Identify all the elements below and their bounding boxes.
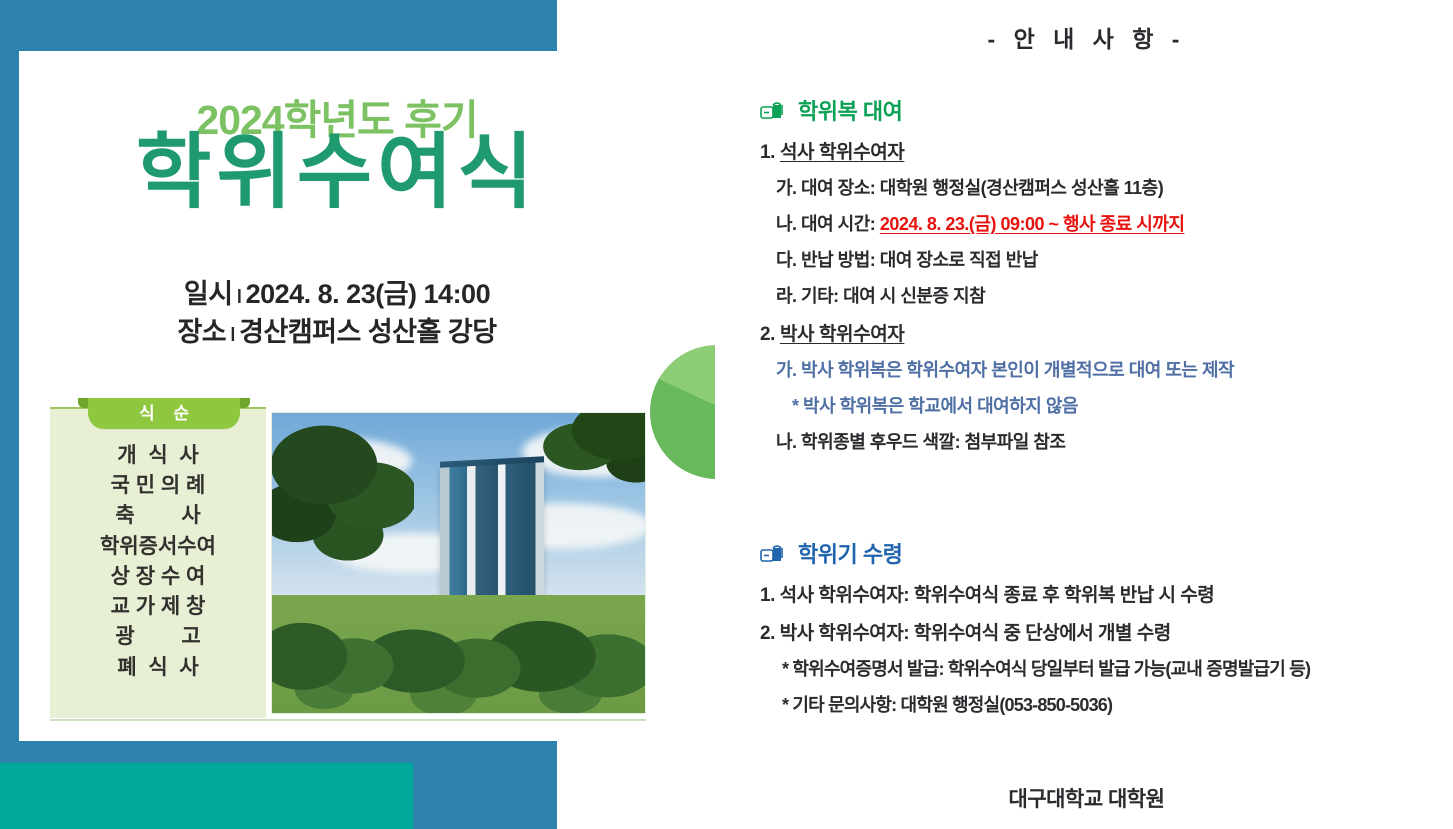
notice-title: - 안 내 사 항 -	[720, 20, 1453, 54]
poster-place-row: 장소ı경산캠퍼스 성산홀 강당	[19, 313, 655, 351]
section-heading-text: 학위기 수령	[798, 537, 902, 569]
notice-panel: - 안 내 사 항 - 학위복 대여 1. 석사 학위수여자가. 대여 장소: …	[720, 0, 1453, 829]
item-emphasis: 2024. 8. 23.(금) 09:00 ~ 행사 종료 시까지	[880, 214, 1185, 234]
notice-numbered-item: 1. 석사 학위수여자	[760, 137, 1453, 164]
notice-numbered-item: 2. 박사 학위수여자: 학위수여식 중 단상에서 개별 수령	[760, 618, 1453, 645]
notice-sub-item-note: * 박사 학위복은 학교에서 대여하지 않음	[760, 392, 1453, 418]
program-item: 교 가 제 창	[50, 592, 266, 622]
item-number: 2.	[760, 324, 780, 345]
notice-sub-item: 다. 반납 방법: 대여 장소로 직접 반납	[760, 246, 1453, 272]
item-number: 1.	[760, 142, 780, 163]
notice-sub-item: 라. 기타: 대여 시 신분증 지참	[760, 282, 1453, 308]
poster-place-label: 장소	[177, 317, 226, 347]
program-item: 학위증서수여	[50, 532, 266, 562]
program-item: 축 사	[50, 501, 266, 531]
section-heading-row: 학위기 수령	[760, 537, 1453, 569]
program-item: 개 식 사	[50, 441, 266, 471]
item-underlined-label: 박사 학위수여자	[780, 324, 904, 345]
poster-datetime-value: 2024. 8. 23(금) 14:00	[246, 279, 491, 309]
poster-meta-block: 일시ı2024. 8. 23(금) 14:00 장소ı경산캠퍼스 성산홀 강당	[19, 275, 655, 352]
poster-frame-left-bar	[0, 0, 19, 741]
notice-section-gown-rental: 학위복 대여 1. 석사 학위수여자가. 대여 장소: 대학원 행정실(경산캠퍼…	[760, 94, 1453, 454]
item-underlined-label: 석사 학위수여자	[780, 142, 904, 163]
mailbox-icon	[760, 99, 786, 121]
poster-frame-teal-bar	[0, 763, 413, 829]
event-poster: 2024학년도 후기 학위수여식 일시ı2024. 8. 23(금) 14:00…	[0, 0, 720, 829]
notice-star-note: * 기타 문의사항: 대학원 행정실(053-850-5036)	[760, 691, 1453, 717]
section-body: 1. 석사 학위수여자: 학위수여식 종료 후 학위복 반납 시 수령2. 박사…	[760, 580, 1453, 717]
section-body: 1. 석사 학위수여자가. 대여 장소: 대학원 행정실(경산캠퍼스 성산홀 1…	[760, 137, 1453, 454]
footer-text: 대구대학교 대학원	[1009, 788, 1165, 811]
poster-sep-1: ı	[233, 279, 246, 309]
program-item: 상 장 수 여	[50, 562, 266, 592]
photo-treeline	[272, 595, 645, 713]
notice-numbered-item: 2. 박사 학위수여자	[760, 319, 1453, 346]
notice-sub-item: 나. 학위종별 후우드 색깔: 첨부파일 참조	[760, 428, 1453, 454]
notice-sub-item-highlight: 나. 대여 시간: 2024. 8. 23.(금) 09:00 ~ 행사 종료 …	[760, 210, 1453, 236]
program-item-list: 개 식 사국 민 의 례축 사학위증서수여상 장 수 여교 가 제 창광 고폐 …	[50, 441, 266, 683]
poster-datetime-label: 일시	[184, 279, 233, 309]
notice-star-note: * 학위수여증명서 발급: 학위수여식 당일부터 발급 가능(교내 증명발급기 …	[760, 655, 1453, 681]
program-item: 폐 식 사	[50, 653, 266, 683]
notice-numbered-item: 1. 석사 학위수여자: 학위수여식 종료 후 학위복 반납 시 수령	[760, 580, 1453, 607]
program-item: 광 고	[50, 622, 266, 652]
notice-section-diploma-pickup: 학위기 수령 1. 석사 학위수여자: 학위수여식 종료 후 학위복 반납 시 …	[760, 537, 1453, 717]
photo-tree-right	[535, 412, 646, 497]
poster-place-value: 경산캠퍼스 성산홀 강당	[239, 317, 496, 347]
section-heading-text: 학위복 대여	[798, 94, 902, 126]
poster-datetime-row: 일시ı2024. 8. 23(금) 14:00	[19, 275, 655, 313]
poster-main-title: 학위수여식	[19, 132, 655, 214]
notice-footer-organization: 대구대학교 대학원	[720, 783, 1453, 813]
program-banner-label: 식 순	[88, 398, 240, 429]
program-item: 국 민 의 례	[50, 471, 266, 501]
campus-photo	[271, 412, 646, 714]
notice-sub-item-note: 가. 박사 학위복은 학위수여자 본인이 개별적으로 대여 또는 제작	[760, 356, 1453, 382]
poster-bottom-rule	[50, 719, 646, 721]
green-circle-decoration	[650, 345, 720, 479]
notice-sub-item: 가. 대여 장소: 대학원 행정실(경산캠퍼스 성산홀 11층)	[760, 174, 1453, 200]
poster-sep-2: ı	[226, 317, 239, 347]
photo-tree-left	[271, 423, 414, 563]
section-heading-row: 학위복 대여	[760, 94, 1453, 126]
poster-frame-top-bar	[0, 0, 557, 51]
mailbox-icon	[760, 542, 786, 564]
item-lead: 나. 대여 시간:	[776, 214, 880, 234]
